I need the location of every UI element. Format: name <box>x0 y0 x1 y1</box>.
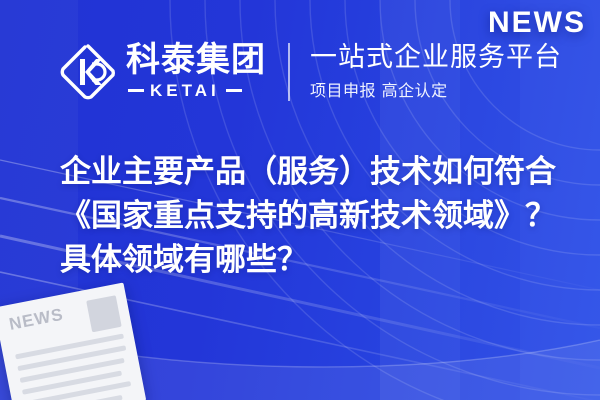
brand-name-en-row: KETAI <box>128 81 266 101</box>
news-banner: NEWS 科泰集团 KETAI <box>0 0 600 400</box>
ketai-diamond-monogram-icon <box>58 42 118 102</box>
brand-wordmark: 科泰集团 KETAI <box>126 43 266 101</box>
brand-name-cn: 科泰集团 <box>126 43 266 79</box>
tagline-sub: 项目申报 高企认定 <box>310 77 562 101</box>
brand-name-en: KETAI <box>150 81 220 101</box>
newspaper-thumbnail-icon <box>86 295 122 332</box>
newspaper-masthead: NEWS <box>7 305 65 335</box>
wordmark-dash-left <box>128 89 144 92</box>
news-badge: NEWS <box>488 6 586 40</box>
brand-header: 科泰集团 KETAI 一站式企业服务平台 项目申报 高企认定 <box>58 42 562 102</box>
header-divider <box>288 43 290 101</box>
tagline-main: 一站式企业服务平台 <box>310 43 562 73</box>
tagline-block: 一站式企业服务平台 项目申报 高企认定 <box>310 43 562 101</box>
headline-title: 企业主要产品（服务）技术如何符合《国家重点支持的高新技术领域》？具体领域有哪些？ <box>60 150 570 282</box>
wordmark-dash-right <box>226 89 242 92</box>
